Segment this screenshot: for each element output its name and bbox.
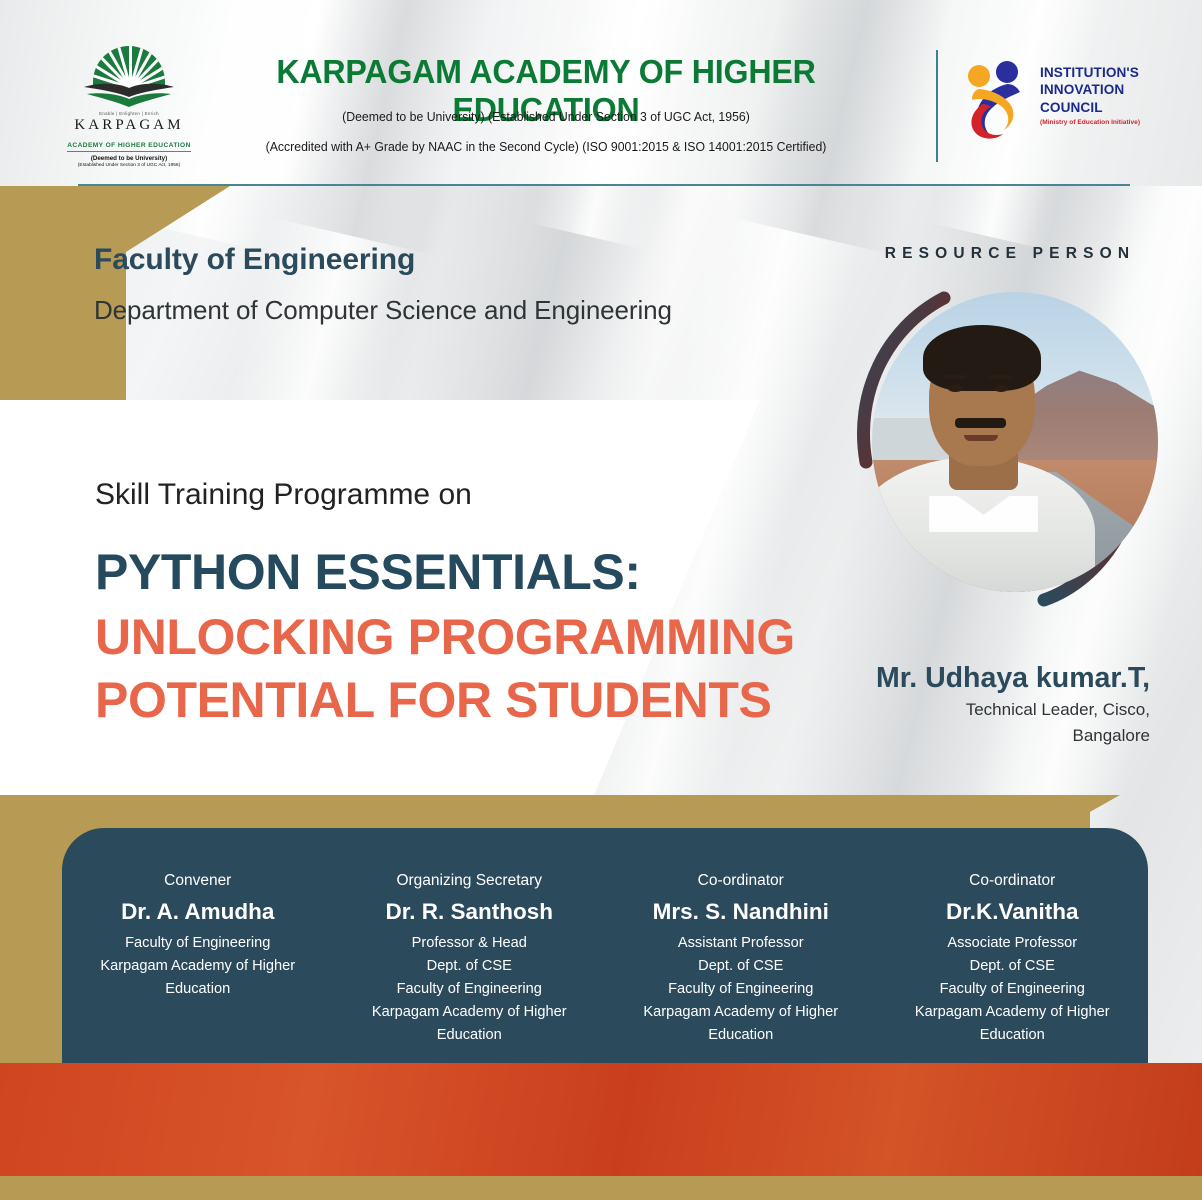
organizers-panel: Convener Dr. A. Amudha Faculty of Engine… — [62, 828, 1148, 1063]
iic-line-2: INNOVATION — [1040, 81, 1140, 98]
karpagam-logo-established: (Established Under Section 3 of UGC Act,… — [62, 163, 196, 168]
photo-mouth — [964, 435, 998, 441]
event-title-line-3: POTENTIAL FOR STUDENTS — [95, 675, 771, 725]
organizer-column: Convener Dr. A. Amudha Faculty of Engine… — [62, 828, 334, 1063]
resource-person-label: RESOURCE PERSON — [860, 245, 1160, 263]
karpagam-logo-tagline: Enable | Enlighten | Enrich — [62, 111, 196, 116]
event-title-line-2: UNLOCKING PROGRAMMING — [95, 612, 795, 662]
department-name: Department of Computer Science and Engin… — [94, 295, 672, 326]
open-book-icon — [81, 82, 177, 108]
karpagam-emblem-icon — [79, 46, 179, 110]
organizer-affiliation: Professor & Head Dept. of CSE Faculty of… — [338, 932, 602, 1047]
event-poster: Enable | Enlighten | Enrich KARPAGAM ACA… — [0, 0, 1202, 1200]
karpagam-logo-sub: ACADEMY OF HIGHER EDUCATION — [67, 142, 191, 152]
organizer-name: Dr. R. Santhosh — [338, 899, 602, 925]
iic-text-block: INSTITUTION'S INNOVATION COUNCIL (Minist… — [1040, 64, 1140, 126]
organizer-column: Organizing Secretary Dr. R. Santhosh Pro… — [334, 828, 606, 1063]
poster-footer: FEB. 17 to 19 2025 Venue: CAD Lab1, FOE … — [0, 1063, 1202, 1176]
photo-hair — [923, 325, 1040, 391]
karpagam-logo: Enable | Enlighten | Enrich KARPAGAM ACA… — [62, 46, 196, 168]
iic-ministry-note: (Ministry of Education Initiative) — [1040, 119, 1140, 126]
organizer-column: Co-ordinator Mrs. S. Nandhini Assistant … — [605, 828, 877, 1063]
iic-emblem-icon — [962, 58, 1036, 142]
bottom-gold-strip — [0, 1176, 1202, 1200]
header-rule — [78, 184, 1130, 186]
resource-person-photo — [872, 292, 1158, 592]
organizer-name: Mrs. S. Nandhini — [609, 899, 873, 925]
photo-eye-left — [948, 385, 963, 392]
iic-line-3: COUNCIL — [1040, 99, 1140, 116]
event-title-line-1: PYTHON ESSENTIALS: — [95, 547, 641, 597]
organizer-name: Dr.K.Vanitha — [881, 899, 1145, 925]
event-pre-title: Skill Training Programme on — [95, 478, 472, 512]
organizer-role: Convener — [66, 872, 330, 890]
iic-logo: INSTITUTION'S INNOVATION COUNCIL (Minist… — [962, 56, 1152, 148]
karpagam-logo-deemed: (Deemed to be University) — [62, 155, 196, 162]
organizer-role: Co-ordinator — [881, 872, 1145, 890]
resource-person-city: Bangalore — [700, 726, 1150, 746]
organizer-affiliation: Associate Professor Dept. of CSE Faculty… — [881, 932, 1145, 1047]
organizer-role: Co-ordinator — [609, 872, 873, 890]
poster-header: Enable | Enlighten | Enrich KARPAGAM ACA… — [0, 0, 1202, 186]
organizer-name: Dr. A. Amudha — [66, 899, 330, 925]
university-subtitle-2: (Accredited with A+ Grade by NAAC in the… — [206, 139, 887, 154]
organizer-column: Co-ordinator Dr.K.Vanitha Associate Prof… — [877, 828, 1149, 1063]
organizer-affiliation: Faculty of Engineering Karpagam Academy … — [66, 932, 330, 1001]
photo-eyebrow-right — [989, 375, 1012, 380]
karpagam-logo-name: KARPAGAM — [62, 117, 196, 134]
organizer-role: Organizing Secretary — [338, 872, 602, 890]
faculty-name: Faculty of Engineering — [94, 243, 415, 277]
iic-line-1: INSTITUTION'S — [1040, 64, 1140, 81]
university-subtitle-1: (Deemed to be University) (Established U… — [221, 109, 872, 124]
photo-moustache — [955, 418, 1006, 428]
header-divider — [936, 50, 938, 162]
photo-eyebrow-left — [944, 375, 967, 380]
organizer-affiliation: Assistant Professor Dept. of CSE Faculty… — [609, 932, 873, 1047]
